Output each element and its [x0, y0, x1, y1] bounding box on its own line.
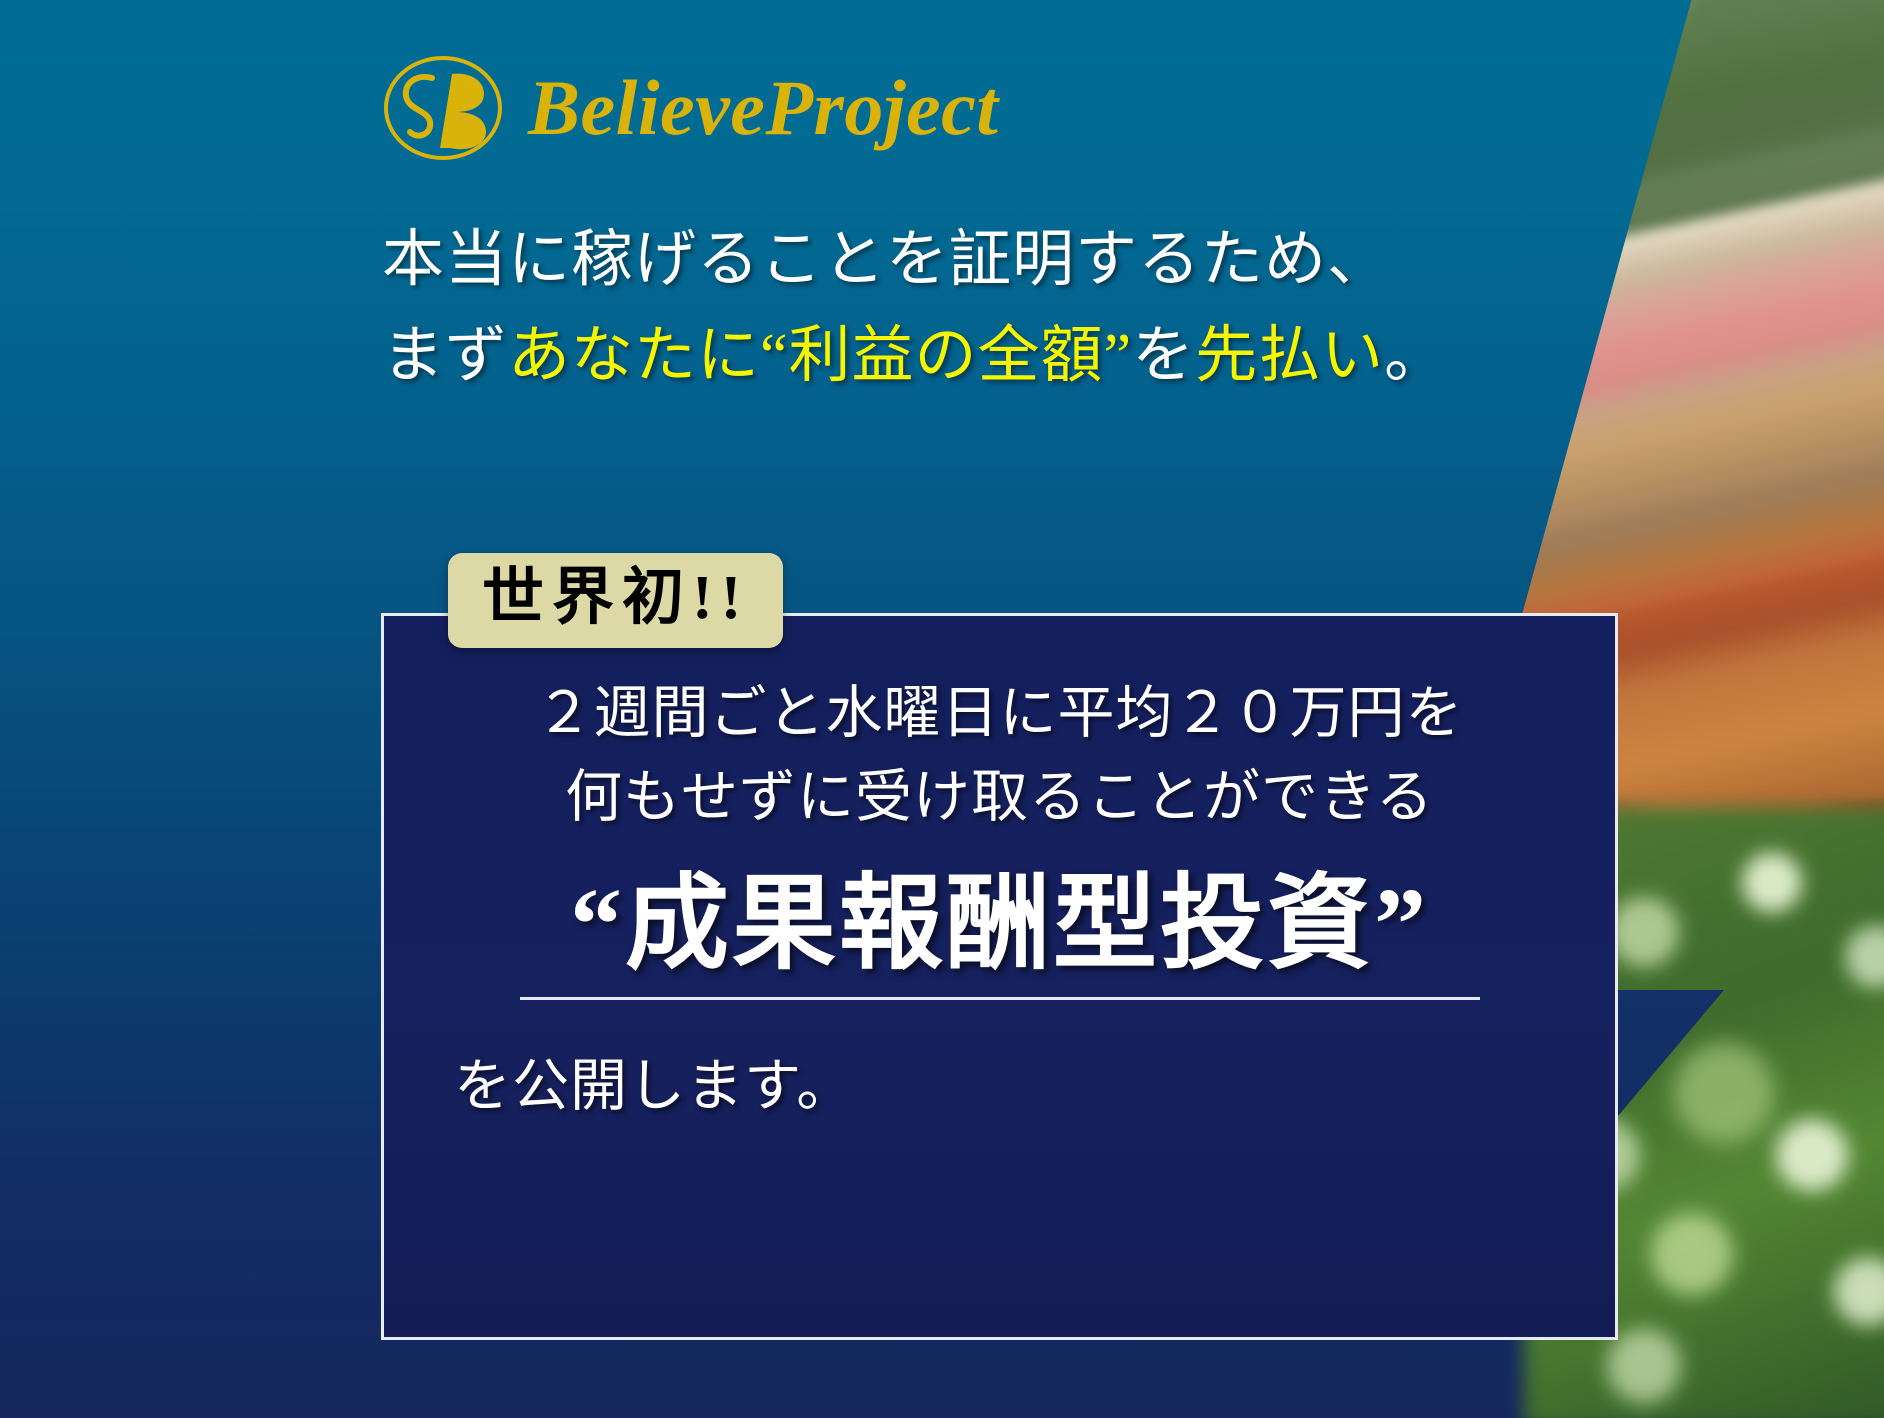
headline-seg-emphasis-2: “利益の全額”: [760, 322, 1132, 390]
headline-seg-emphasis-1: あなたに: [508, 322, 760, 390]
offer-panel: ２週間ごと水曜日に平均２０万円を 何もせずに受け取ることができる “成果報酬型投…: [381, 613, 1618, 1340]
headline-seg-emphasis-3: 先払い: [1195, 322, 1384, 390]
sb-monogram-icon: [380, 52, 510, 164]
offer-panel-content: ２週間ごと水曜日に平均２０万円を 何もせずに受け取ることができる “成果報酬型投…: [384, 616, 1615, 1337]
slide-root: BelieveProject 本当に稼げることを証明するため、 まずあなたに“利…: [0, 0, 1884, 1418]
brand-name: BelieveProject: [528, 69, 998, 147]
offer-line-2: 何もせずに受け取ることができる: [434, 756, 1565, 840]
brand-logo: BelieveProject: [380, 52, 998, 164]
offer-feature-title: “成果報酬型投資”: [434, 867, 1565, 983]
offer-line-1: ２週間ごと水曜日に平均２０万円を: [434, 672, 1565, 756]
headline-line-1: 本当に稼げることを証明するため、: [382, 212, 1502, 308]
headline-block: 本当に稼げることを証明するため、 まずあなたに“利益の全額”を先払い。: [382, 212, 1502, 404]
divider-rule: [520, 997, 1480, 1000]
offer-tail-text: を公開します。: [434, 1040, 1565, 1122]
headline-line-2: まずあなたに“利益の全額”を先払い。: [382, 308, 1502, 404]
headline-seg-plain-3: 。: [1384, 322, 1447, 390]
headline-seg-plain-2: を: [1132, 322, 1195, 390]
world-first-badge: 世界初!!: [448, 553, 783, 648]
headline-seg-plain-1: まず: [382, 322, 508, 390]
